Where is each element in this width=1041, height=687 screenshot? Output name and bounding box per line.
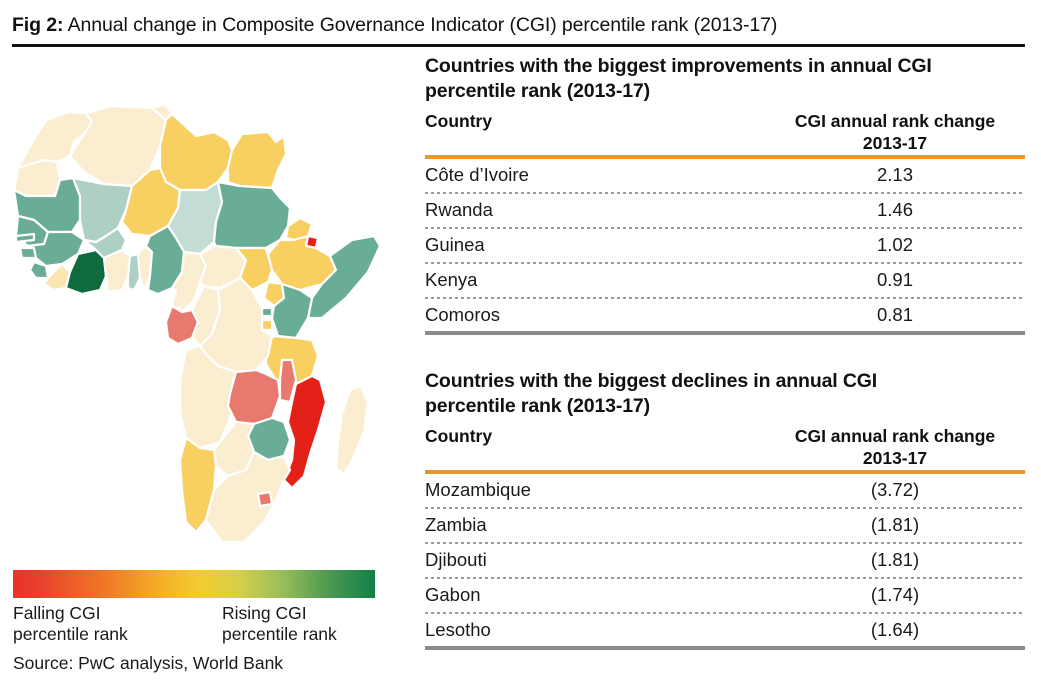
region-egypt [228,132,286,188]
table-row: Gabon (1.74) [425,579,1025,611]
column-header-value: CGI annual rank change 2013-17 [765,108,1025,155]
figure-container: Fig 2: Annual change in Composite Govern… [0,0,1041,687]
cell-value: (1.81) [765,544,1025,576]
region-ghana [104,250,130,292]
table-row: Kenya 0.91 [425,264,1025,296]
cell-country: Gabon [425,579,765,611]
improvements-table-block: Countries with the biggest improvements … [425,54,1025,335]
table-row: Comoros 0.81 [425,299,1025,331]
africa-choropleth-map [0,50,420,565]
table-footer-rule [425,646,1025,650]
cell-value: (3.72) [765,474,1025,506]
region-sudan [214,182,290,248]
cell-value: 0.91 [765,264,1025,296]
table-row: Lesotho (1.64) [425,614,1025,646]
column-header-country: Country [425,108,765,155]
legend-labels: Falling CGI percentile rank Rising CGI p… [13,603,375,647]
table-row: Côte d’Ivoire 2.13 [425,159,1025,191]
region-zambia [228,370,280,424]
title-divider [12,44,1025,47]
figure-title-block: Fig 2: Annual change in Composite Govern… [12,12,1025,46]
figure-label: Fig 2: [12,14,63,36]
table-row: Mozambique (3.72) [425,474,1025,506]
region-mali [73,178,132,242]
cell-value: 1.02 [765,229,1025,261]
source-note: Source: PwC analysis, World Bank [13,653,283,674]
table-header-row: Country CGI annual rank change 2013-17 [425,108,1025,155]
map-legend: Falling CGI percentile rank Rising CGI p… [13,570,375,647]
improvements-table: Country CGI annual rank change 2013-17 C… [425,108,1025,335]
region-rwanda [262,308,272,316]
cell-value: 0.81 [765,299,1025,331]
cell-value: 2.13 [765,159,1025,191]
cell-country: Comoros [425,299,765,331]
cell-value: (1.64) [765,614,1025,646]
map-svg [0,50,420,565]
region-madagascar [336,386,368,474]
region-burundi [262,320,272,330]
legend-gradient-bar [13,570,375,598]
legend-label-rising: Rising CGI percentile rank [222,603,337,645]
cell-value: 1.46 [765,194,1025,226]
cell-country: Rwanda [425,194,765,226]
page-title: Fig 2: Annual change in Composite Govern… [12,12,1025,38]
column-header-country: Country [425,423,765,470]
cell-country: Djibouti [425,544,765,576]
column-header-value: CGI annual rank change 2013-17 [765,423,1025,470]
table-row: Zambia (1.81) [425,509,1025,541]
table-row: Rwanda 1.46 [425,194,1025,226]
cell-country: Côte d’Ivoire [425,159,765,191]
cell-country: Kenya [425,264,765,296]
cell-value: (1.81) [765,509,1025,541]
figure-title-text: Annual change in Composite Governance In… [63,14,777,36]
table-footer-rule [425,331,1025,335]
cell-country: Lesotho [425,614,765,646]
declines-table-block: Countries with the biggest declines in a… [425,369,1025,650]
declines-table: Country CGI annual rank change 2013-17 M… [425,423,1025,650]
cell-country: Zambia [425,509,765,541]
legend-label-falling: Falling CGI percentile rank [13,603,128,645]
table-row: Djibouti (1.81) [425,544,1025,576]
region-gambia [16,234,34,242]
cell-value: (1.74) [765,579,1025,611]
declines-table-title: Countries with the biggest declines in a… [425,369,1025,419]
cell-country: Mozambique [425,474,765,506]
region-lesotho [258,492,272,506]
region-libya [160,114,232,190]
improvements-table-title: Countries with the biggest improvements … [425,54,1025,104]
cell-country: Guinea [425,229,765,261]
table-header-row: Country CGI annual rank change 2013-17 [425,423,1025,470]
table-row: Guinea 1.02 [425,229,1025,261]
